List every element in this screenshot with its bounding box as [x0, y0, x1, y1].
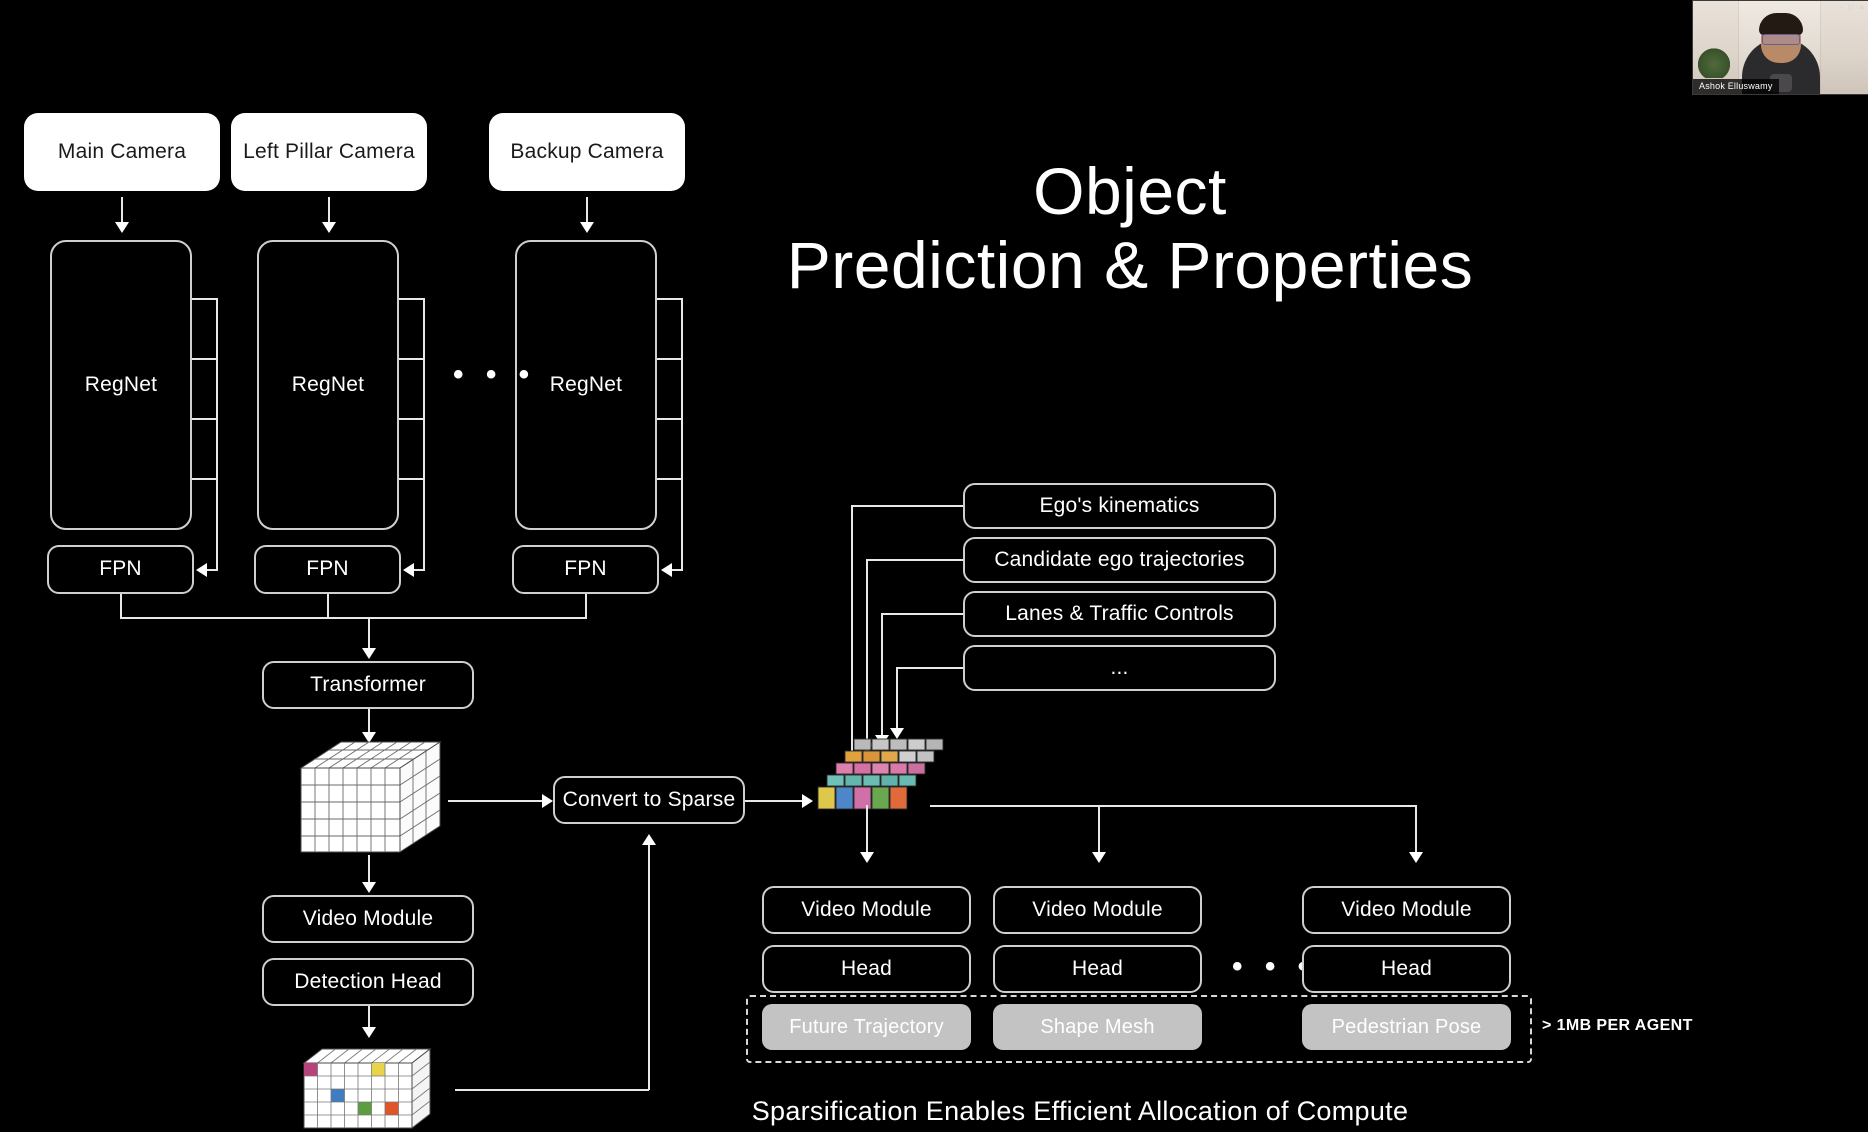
context-label: ...: [1110, 656, 1128, 680]
slab-down-col1: [866, 805, 868, 853]
sparse-colored-slab: [808, 735, 953, 830]
skip-tap-1-b: [192, 358, 218, 360]
backbone-box-regnet-2[interactable]: RegNet: [257, 240, 399, 530]
arrowhead-up: [642, 834, 656, 845]
speaker-name-label: Ashok Elluswamy: [1693, 79, 1779, 94]
skip-tap-1-a: [192, 298, 218, 300]
backbone-label: RegNet: [85, 373, 157, 397]
sparse-slab-svg: [808, 735, 953, 825]
arrowhead-down: [1409, 852, 1423, 863]
head-label: Head: [1381, 957, 1432, 981]
agent-video-module-1[interactable]: Video Module: [762, 886, 971, 934]
detection-head-label: Detection Head: [294, 970, 442, 994]
fpn-box-3[interactable]: FPN: [512, 545, 659, 594]
skip-tap-2-b: [399, 358, 425, 360]
merge-to-transformer: [368, 617, 370, 649]
context-tap-4: [896, 667, 963, 669]
camera-box-backup[interactable]: Backup Camera: [489, 113, 685, 191]
slab-down-col2: [1098, 805, 1100, 853]
arrowhead-down: [362, 1027, 376, 1038]
context-box-ego-kinematics[interactable]: Ego's kinematics: [963, 483, 1276, 529]
context-label: Ego's kinematics: [1039, 494, 1199, 518]
arrowhead-down: [860, 852, 874, 863]
context-box-more[interactable]: ...: [963, 645, 1276, 691]
video-module-label: Video Module: [1032, 898, 1162, 922]
skip-bus-2: [423, 298, 425, 570]
agent-video-module-3[interactable]: Video Module: [1302, 886, 1511, 934]
video-module-box-left[interactable]: Video Module: [262, 895, 474, 943]
camera-box-main[interactable]: Main Camera: [24, 113, 220, 191]
ellipsis-backbone-row: • • •: [453, 360, 536, 390]
dense-feature-cube: [285, 740, 445, 860]
arrowhead-down: [1092, 852, 1106, 863]
agent-head-2[interactable]: Head: [993, 945, 1202, 993]
video-module-label: Video Module: [303, 907, 433, 931]
arrowhead-down: [362, 648, 376, 659]
skip-tap-3-b: [657, 358, 683, 360]
detection-grid-svg: [296, 1043, 436, 1132]
arrowhead-down: [115, 222, 129, 233]
agent-video-module-2[interactable]: Video Module: [993, 886, 1202, 934]
fpn-drop-2: [327, 594, 329, 618]
fpn-box-2[interactable]: FPN: [254, 545, 401, 594]
arrowhead-down: [362, 882, 376, 893]
fpn-box-1[interactable]: FPN: [47, 545, 194, 594]
skip-tap-2-a: [399, 298, 425, 300]
camera-label: Main Camera: [58, 140, 186, 164]
connector-camera-to-regnet-1: [121, 197, 123, 223]
slide-title: Object Prediction & Properties: [760, 155, 1500, 303]
arrowhead-down: [580, 222, 594, 233]
cube-to-video-module: [368, 855, 370, 883]
fpn-merge-bus: [120, 617, 587, 619]
arrowhead-down: [322, 222, 336, 233]
skip-tap-2-d: [399, 478, 425, 480]
more-options-icon[interactable]: ⋯: [1857, 82, 1866, 91]
window-controls-icon[interactable]: - □ ×: [1839, 3, 1866, 12]
fpn-label: FPN: [306, 557, 349, 581]
skip-return-3: [672, 569, 683, 571]
convert-to-slab-line: [745, 800, 803, 802]
agent-head-3[interactable]: Head: [1302, 945, 1511, 993]
fpn-drop-3: [585, 594, 587, 618]
transformer-label: Transformer: [310, 673, 426, 697]
context-down-3: [881, 613, 883, 736]
connector-camera-to-regnet-3: [586, 197, 588, 223]
context-tap-2: [866, 559, 963, 561]
webcam-overlay[interactable]: - □ × ⋯ Ashok Elluswamy: [1692, 0, 1868, 95]
slab-distribution-bus: [930, 805, 1417, 807]
backbone-box-regnet-3[interactable]: RegNet: [515, 240, 657, 530]
convert-to-sparse-label: Convert to Sparse: [563, 788, 736, 812]
transformer-to-cube: [368, 709, 370, 733]
detection-output-grid: [296, 1043, 436, 1132]
convert-to-sparse-box[interactable]: Convert to Sparse: [553, 776, 745, 824]
arrowhead-right: [542, 794, 553, 808]
skip-tap-1-d: [192, 478, 218, 480]
context-box-lanes-traffic[interactable]: Lanes & Traffic Controls: [963, 591, 1276, 637]
context-down-2: [866, 559, 868, 744]
skip-bus-1: [216, 298, 218, 570]
backbone-label: RegNet: [292, 373, 364, 397]
detection-head-box[interactable]: Detection Head: [262, 958, 474, 1006]
backbone-label: RegNet: [550, 373, 622, 397]
context-label: Lanes & Traffic Controls: [1005, 602, 1234, 626]
skip-return-1: [207, 569, 218, 571]
speaker-hair: [1759, 13, 1803, 35]
output-group-dashed-box: [746, 995, 1532, 1063]
slide-canvas: Object Prediction & Properties Main Came…: [0, 0, 1868, 1132]
per-agent-note: > 1MB PER AGENT: [1542, 1017, 1693, 1035]
cube-to-convert-line: [448, 800, 543, 802]
agent-head-1[interactable]: Head: [762, 945, 971, 993]
skip-tap-3-c: [657, 418, 683, 420]
context-tap-1: [851, 505, 963, 507]
backbone-box-regnet-1[interactable]: RegNet: [50, 240, 192, 530]
plant-decoration: [1697, 44, 1731, 78]
context-down-4: [896, 667, 898, 729]
detection-feedback-v: [648, 845, 650, 1090]
context-box-candidate-trajectories[interactable]: Candidate ego trajectories: [963, 537, 1276, 583]
fpn-label: FPN: [99, 557, 142, 581]
head-label: Head: [1072, 957, 1123, 981]
glasses-icon: [1762, 34, 1800, 45]
dense-cube-svg: [285, 740, 445, 855]
detection-head-to-grid: [368, 1006, 370, 1028]
camera-label: Backup Camera: [510, 140, 663, 164]
skip-tap-3-a: [657, 298, 683, 300]
detection-feedback-h: [455, 1089, 649, 1091]
fpn-label: FPN: [564, 557, 607, 581]
skip-tap-3-d: [657, 478, 683, 480]
skip-tap-1-c: [192, 418, 218, 420]
context-down-1: [851, 505, 853, 753]
slab-down-col3: [1415, 805, 1417, 853]
skip-bus-3: [681, 298, 683, 570]
slide-title-line-1: Object: [760, 155, 1500, 229]
arrowhead-left: [661, 563, 672, 577]
slide-title-line-2: Prediction & Properties: [760, 229, 1500, 303]
video-module-label: Video Module: [1341, 898, 1471, 922]
slide-caption: Sparsification Enables Efficient Allocat…: [650, 1096, 1510, 1127]
skip-tap-2-c: [399, 418, 425, 420]
camera-label: Left Pillar Camera: [243, 140, 415, 164]
context-tap-3: [881, 613, 963, 615]
arrowhead-left: [196, 563, 207, 577]
context-label: Candidate ego trajectories: [994, 548, 1244, 572]
skip-return-2: [414, 569, 425, 571]
arrowhead-left: [403, 563, 414, 577]
connector-camera-to-regnet-2: [328, 197, 330, 223]
head-label: Head: [841, 957, 892, 981]
fpn-drop-1: [120, 594, 122, 618]
transformer-box[interactable]: Transformer: [262, 661, 474, 709]
video-module-label: Video Module: [801, 898, 931, 922]
camera-box-left-pillar[interactable]: Left Pillar Camera: [231, 113, 427, 191]
